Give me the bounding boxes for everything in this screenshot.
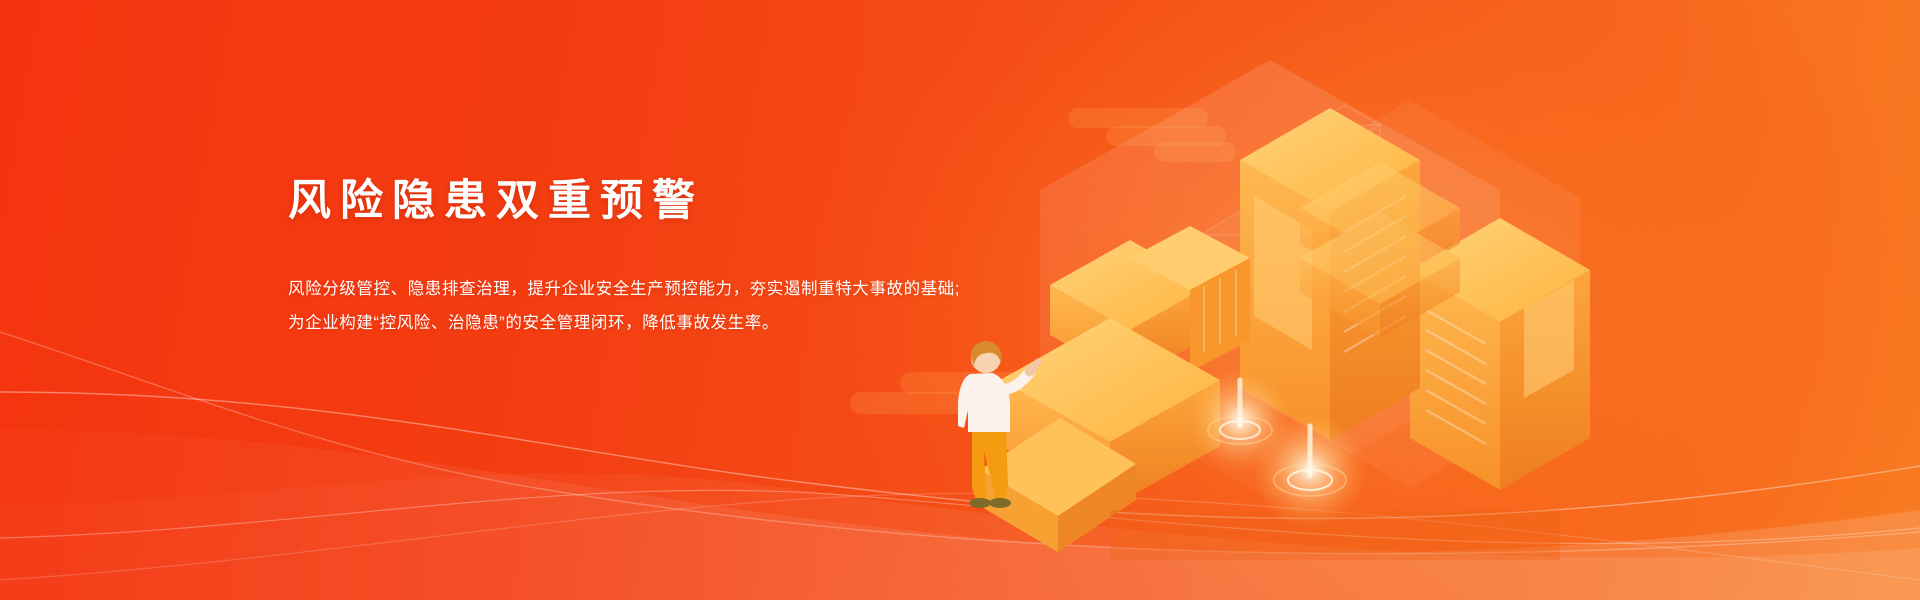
subtitle-line-2: 为企业构建“控风险、治隐患”的安全管理闭环，降低事故发生率。 <box>288 306 1048 340</box>
page-title: 风险隐患双重预警 <box>288 176 1048 228</box>
hero-banner: 风险隐患双重预警 风险分级管控、隐患排查治理，提升企业安全生产预控能力，夯实遏制… <box>0 0 1920 600</box>
banner-copy: 风险隐患双重预警 风险分级管控、隐患排查治理，提升企业安全生产预控能力，夯实遏制… <box>288 176 1048 340</box>
glow-marker-icon <box>1252 412 1368 528</box>
subtitle-line-1: 风险分级管控、隐患排查治理，提升企业安全生产预控能力，夯实遏制重特大事故的基础; <box>288 272 1048 306</box>
banner-subtitle: 风险分级管控、隐患排查治理，提升企业安全生产预控能力，夯实遏制重特大事故的基础;… <box>288 228 1048 340</box>
